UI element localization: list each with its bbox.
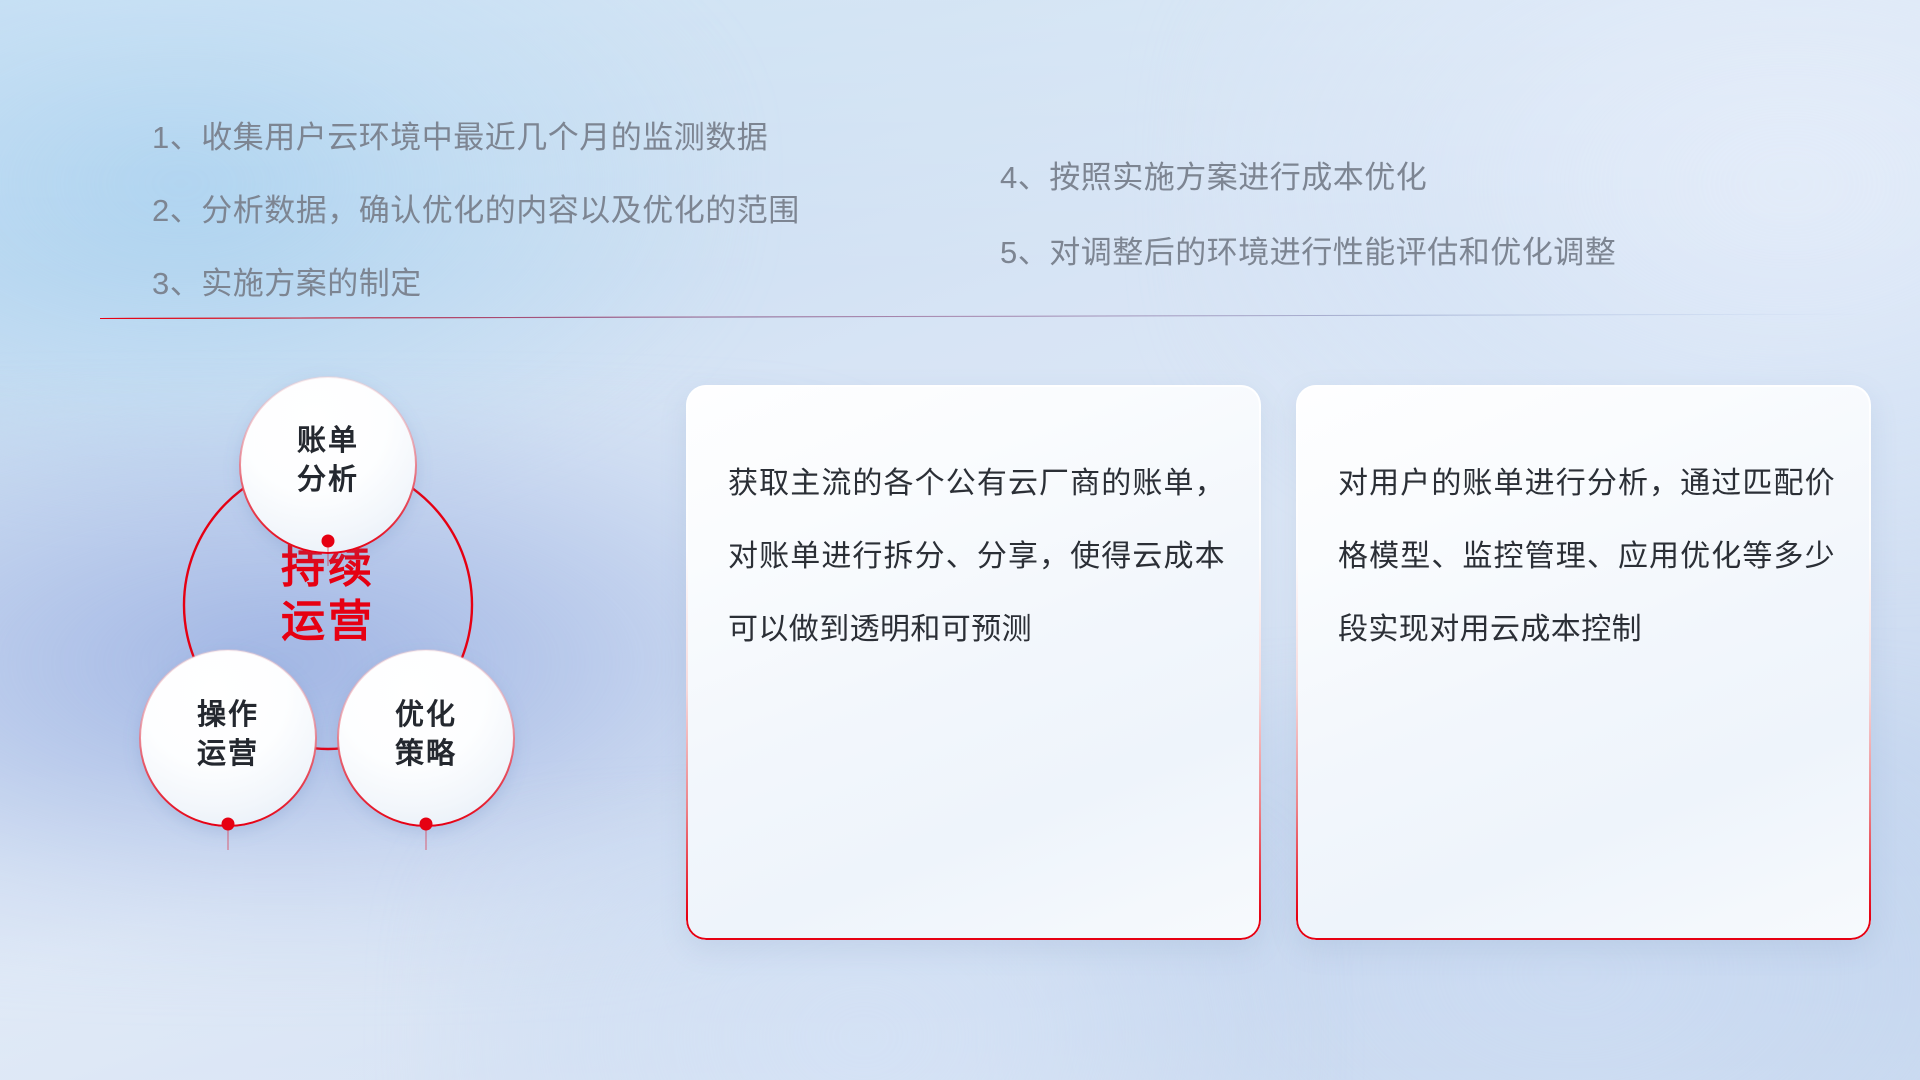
feature-card-cloud-cost-optimization[interactable]: 对用户的账单进行分析，通过匹配价格模型、监控管理、应用优化等多少段实现对用云成本… [1296,385,1871,940]
node-dot [222,818,235,831]
continuous-operation-diagram: 持续 运营 账单 分析 操作 运营 优化 策略 [96,350,676,950]
node-label-line1: 优化 [395,698,457,731]
step-item: 2、分析数据，确认优化的内容以及优化的范围 [152,185,800,230]
step-item: 3、实施方案的制定 [152,258,800,303]
feature-card-multi-cloud-billing[interactable]: 获取主流的各个公有云厂商的账单，对账单进行拆分、分享，使得云成本可以做到透明和可… [686,385,1261,940]
node-label-line1: 账单 [297,424,359,457]
node-dot [420,818,433,831]
node-label-line2: 分析 [297,463,359,496]
header-divider [100,309,1890,319]
step-item: 1、收集用户云环境中最近几个月的监测数据 [152,112,800,157]
diagram-node-bottom-left[interactable]: 操作 运营 [140,650,316,850]
node-label-line1: 操作 [197,698,259,731]
node-label-line2: 运营 [197,737,259,770]
steps-column-left: 1、收集用户云环境中最近几个月的监测数据 2、分析数据，确认优化的内容以及优化的… [152,112,800,331]
card-description: 对用户的账单进行分析，通过匹配价格模型、监控管理、应用优化等多少段实现对用云成本… [1338,447,1835,666]
step-item: 5、对调整后的环境进行性能评估和优化调整 [1000,227,1616,272]
diagram-node-top[interactable]: 账单 分析 [240,377,416,566]
step-item: 4、按照实施方案进行成本优化 [1000,152,1616,197]
diagram-center-label-line2: 运营 [281,597,375,646]
node-dot [322,535,335,548]
diagram-node-bottom-right[interactable]: 优化 策略 [338,650,514,850]
node-label-line2: 策略 [395,736,457,770]
steps-column-right: 4、按照实施方案进行成本优化 5、对调整后的环境进行性能评估和优化调整 [1000,152,1616,302]
card-description: 获取主流的各个公有云厂商的账单，对账单进行拆分、分享，使得云成本可以做到透明和可… [728,447,1225,666]
